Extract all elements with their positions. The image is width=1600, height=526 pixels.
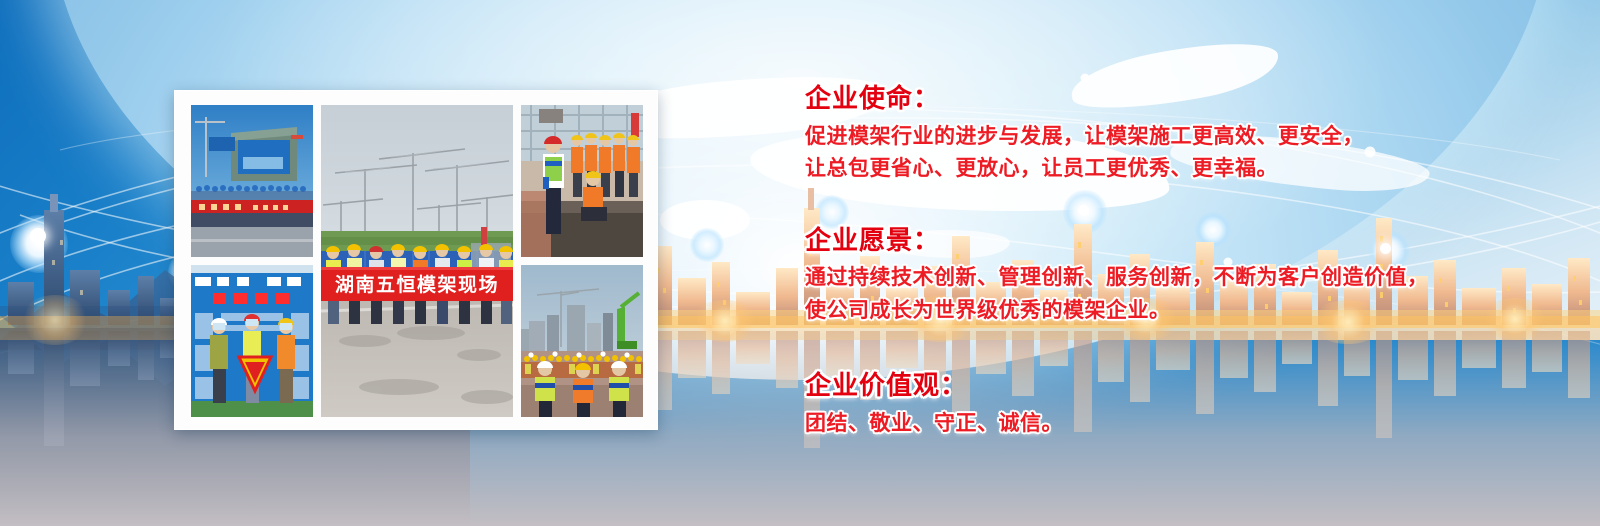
photo-collage-panel: 湖南五恒模架现场 — [174, 90, 658, 430]
vision-heading: 企业愿景： — [805, 224, 1505, 257]
mission-block: 企业使命： 促进模架行业的进步与发展，让模架施工更高效、更安全， 让总包更省心、… — [805, 82, 1505, 186]
values-line-1: 团结、敬业、守正、诚信。 — [805, 408, 1505, 441]
spacer — [805, 186, 1505, 224]
mission-heading: 企业使命： — [805, 82, 1505, 115]
photo-right-bottom — [521, 265, 643, 417]
waterfront-glow — [20, 295, 90, 345]
mission-line-2: 让总包更省心、更放心，让员工更优秀、更幸福。 — [805, 153, 1505, 186]
tower-beacon-icon — [30, 228, 46, 244]
center-photo-banner-text: 湖南五恒模架现场 — [335, 273, 499, 296]
photo-right-top — [521, 105, 643, 257]
vision-line-1: 通过持续技术创新、管理创新、服务创新，不断为客户创造价值， — [805, 262, 1505, 295]
culture-text-block: 企业使命： 促进模架行业的进步与发展，让模架施工更高效、更安全， 让总包更省心、… — [805, 82, 1505, 440]
photo-center: 湖南五恒模架现场 — [321, 105, 513, 417]
vision-block: 企业愿景： 通过持续技术创新、管理创新、服务创新，不断为客户创造价值， 使公司成… — [805, 224, 1505, 328]
vision-line-2: 使公司成长为世界级优秀的模架企业。 — [805, 295, 1505, 328]
photo-left-bottom — [191, 265, 313, 417]
banner-stage: 湖南五恒模架现场 — [0, 0, 1600, 526]
mission-line-1: 促进模架行业的进步与发展，让模架施工更高效、更安全， — [805, 121, 1505, 154]
photo-left-top — [191, 105, 313, 257]
values-block: 企业价值观： 团结、敬业、守正、诚信。 — [805, 369, 1505, 440]
waterfront-glow — [690, 300, 760, 342]
spacer — [805, 327, 1505, 369]
values-heading: 企业价值观： — [805, 369, 1505, 402]
